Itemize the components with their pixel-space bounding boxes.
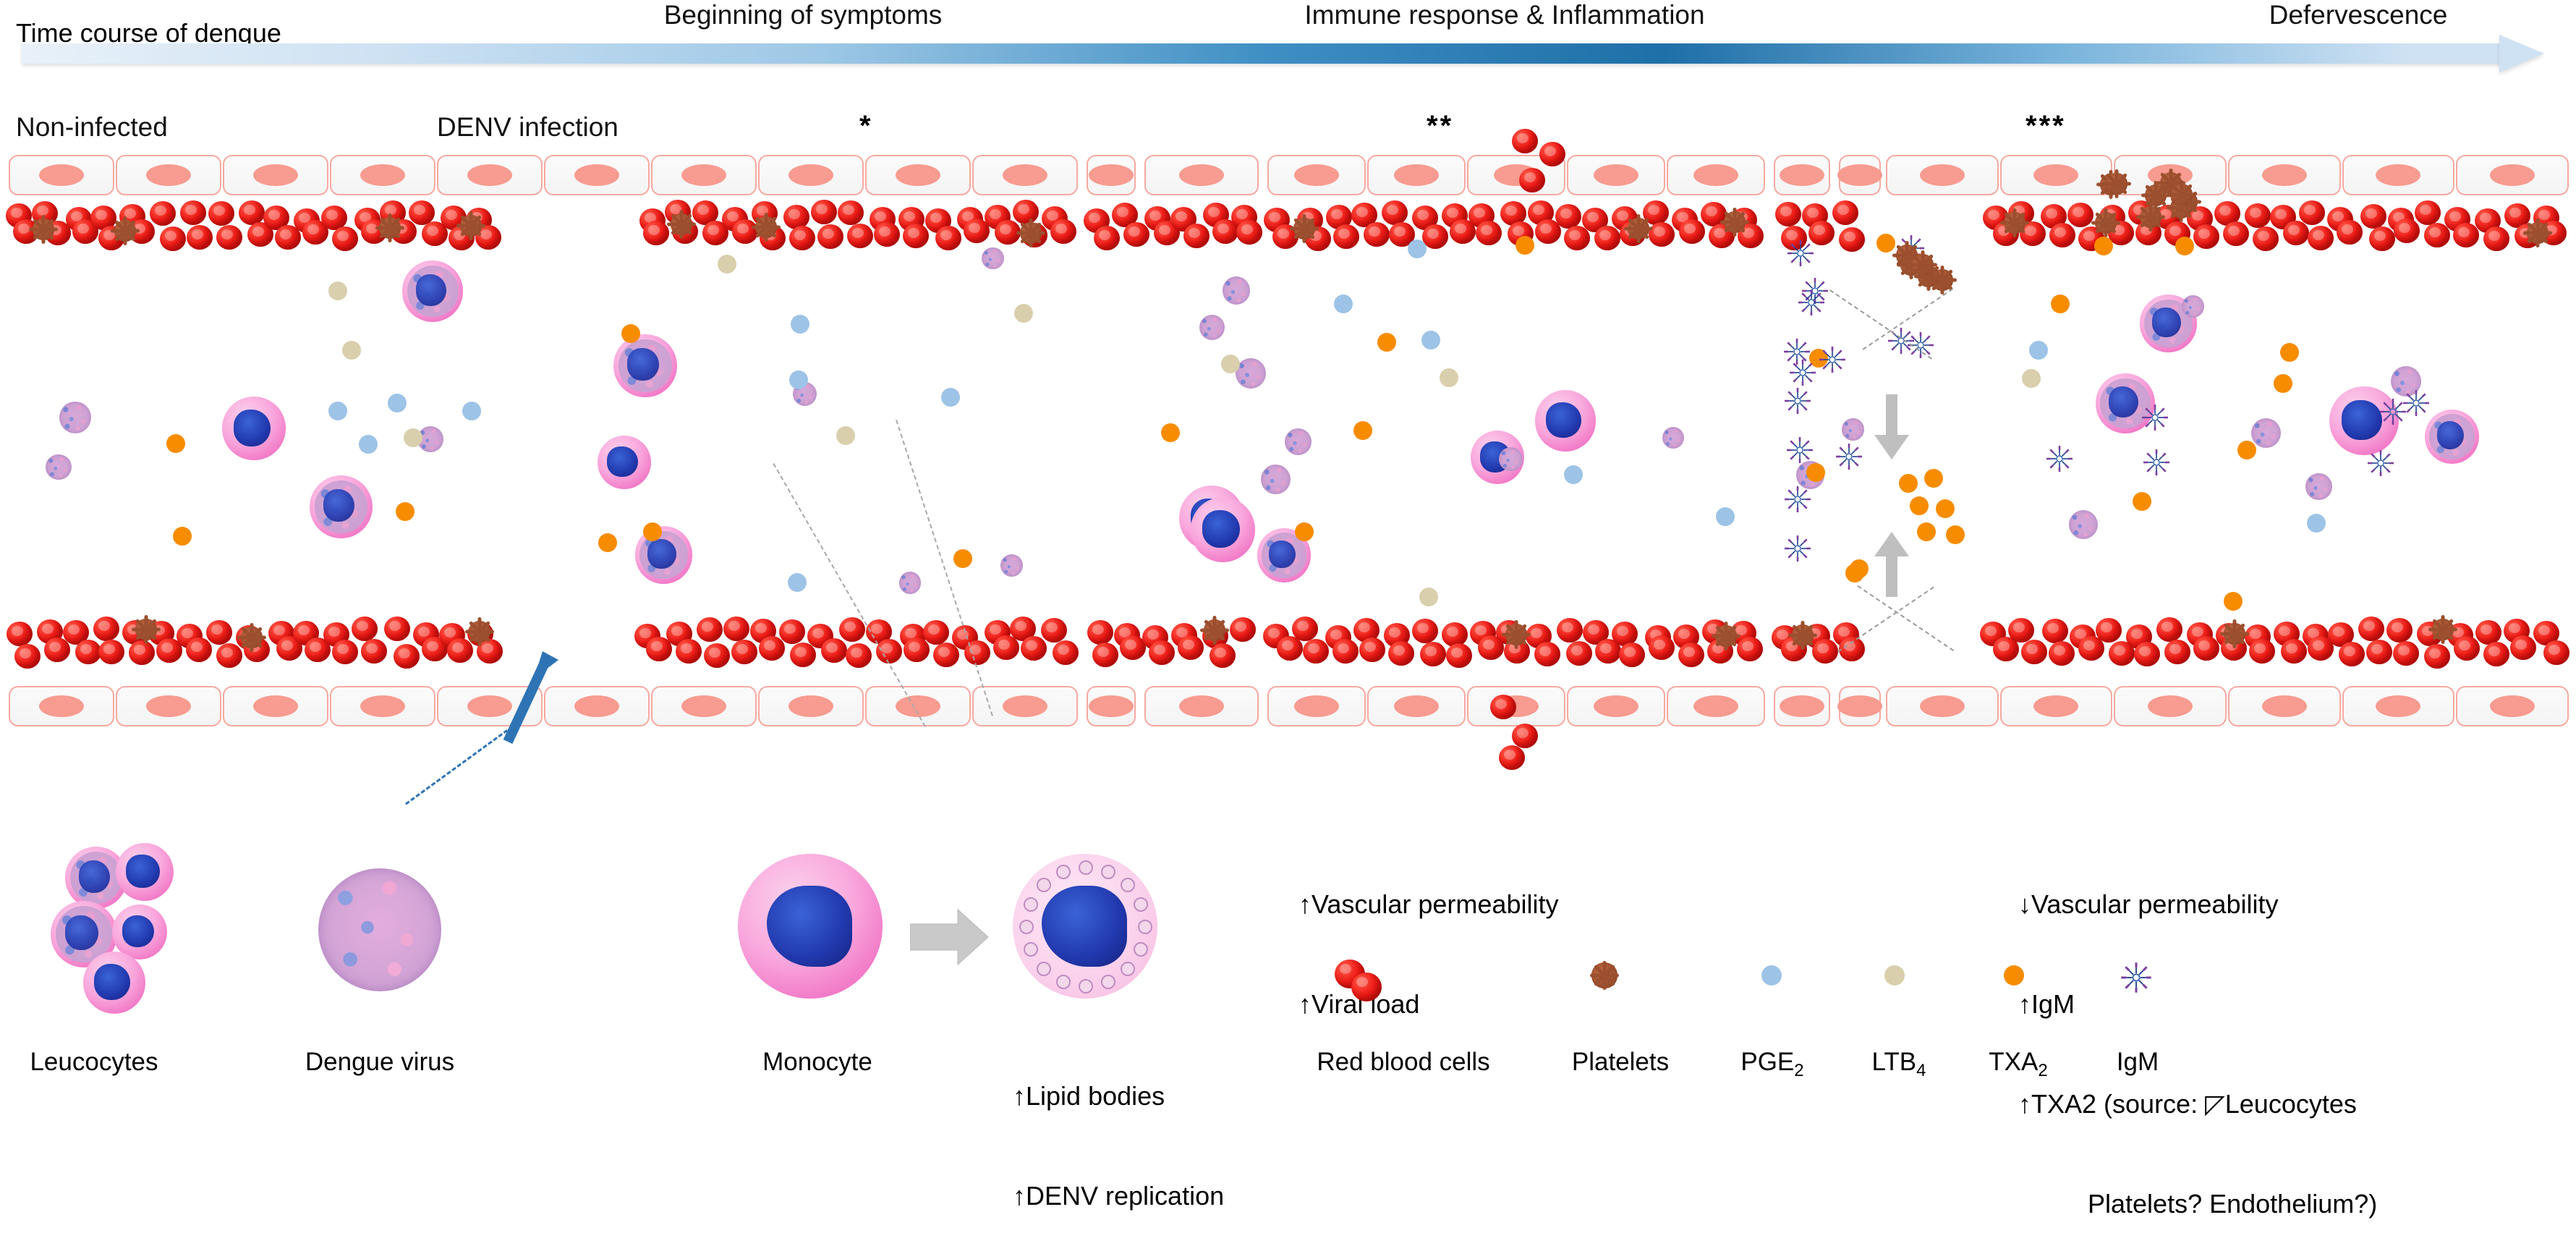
cell-nucleus [1202,510,1240,548]
ltb4-marker [1014,304,1033,323]
red-blood-cell [1094,226,1120,250]
red-blood-cell [1041,618,1067,643]
txa2-marker [953,549,972,568]
endothelial-cell [1144,155,1259,195]
lipid-body [1121,878,1135,892]
dengue-virion [2251,418,2281,448]
platelet-aggregate [2106,173,2127,195]
pge2-marker [2029,341,2048,360]
endothelial-cell [2342,686,2455,726]
leucocyte [83,952,145,1014]
endothelial-cell [1567,686,1665,726]
endothelial-nucleus [1693,164,1738,186]
endothelial-cell [972,155,1078,195]
platelet [1204,619,1225,641]
granulocyte [402,260,463,321]
red-blood-cell [2308,226,2334,250]
red-blood-cell [1183,224,1210,248]
red-blood-cell [2253,226,2279,251]
txa2-marker [598,533,617,552]
legend-label-ltb4: LTB4 [1834,1048,1964,1081]
endothelial-nucleus [2148,695,2193,717]
endothelial-nucleus [1294,695,1339,717]
red-blood-cell [759,636,785,661]
endothelial-nucleus [1089,695,1134,717]
platelet [469,621,490,643]
txa2-marker-cluster [1936,499,1955,518]
extravasating-red-blood-cell [1490,695,1516,719]
red-blood-cell [704,643,730,668]
red-blood-cell [208,201,234,226]
pge2-dot-icon [1761,965,1782,986]
platelet-spike [2140,206,2161,227]
platelet [2527,222,2549,244]
pge2-marker [462,402,481,420]
endothelial-cell [1667,686,1765,726]
platelet-spike [1912,254,1934,276]
red-blood-cell [1210,643,1236,668]
platelet-spike [2004,211,2025,233]
red-blood-cell [1050,219,1076,244]
ltb4-marker [1221,355,1240,373]
red-blood-cell [2483,226,2509,251]
pge2-marker [388,394,407,412]
pge2-marker [1716,507,1735,526]
pge2-marker [1421,331,1440,349]
cell-nucleus [767,886,852,967]
platelet [33,219,54,240]
red-blood-cell [2134,642,2160,666]
endothelial-cell [2456,686,2569,726]
red-blood-cell [14,644,41,669]
red-blood-cell [206,620,232,645]
ltb4-marker [836,426,855,445]
red-blood-cell [2193,224,2219,249]
lipid-body [1037,878,1051,892]
txa2-marker-cluster [1910,496,1929,515]
platelet-spike [241,627,263,648]
pge2-marker [1564,465,1583,484]
red-blood-cell [697,617,723,642]
cell-nucleus [234,410,271,446]
red-blood-cell [332,640,358,664]
legend-label-pge2: PGE2 [1707,1048,1837,1081]
pge2-marker [788,573,807,592]
cell-nucleus [2152,308,2181,337]
txa2-marker-cluster [1917,522,1936,541]
txa2-marker [2237,441,2256,459]
red-blood-cell [839,617,865,642]
platelet-spike [1594,965,1615,986]
platelet [1020,222,1042,244]
platelet [114,220,136,242]
red-blood-cell [2339,642,2365,666]
ltb4-dot-icon [1884,965,1905,986]
platelet [2004,212,2025,234]
red-blood-cell [2366,640,2392,664]
extravasating-red-blood-cell [1519,168,1545,192]
red-blood-cell [2369,226,2395,251]
platelet-spike [2527,222,2549,244]
endothelial-cell [651,686,757,726]
leucocyte [1535,390,1597,452]
txa2-marker [1876,234,1895,253]
endothelial-cell [1774,155,1830,195]
endothelial-cell [544,155,650,195]
pge2-marker [789,370,808,389]
txa2-marker [2051,295,2070,313]
red-blood-cell [352,617,378,641]
platelet-aggregate [2171,184,2193,206]
ltb4-marker [342,341,361,360]
endothelial-nucleus [39,695,84,717]
endothelial-cell [223,686,328,726]
txa2-marker [1377,333,1396,352]
endothelial-nucleus [1920,695,1965,717]
leucocyte [112,905,167,959]
txa2-marker [166,434,185,453]
pge2-marker [328,402,347,420]
red-blood-cell [1013,200,1039,224]
red-blood-cell [723,617,749,641]
platelet-spike [1714,625,1736,647]
endothelial-nucleus [1394,695,1439,717]
red-blood-cell [1649,635,1675,660]
red-blood-cell [216,643,242,668]
endothelial-cell [1667,155,1765,195]
dengue-virion [1842,418,1864,441]
legend-label-platelets: Platelets [1537,1048,1704,1077]
endothelial-cell [1367,686,1466,726]
igm-antibody-icon [1783,485,1812,514]
ltb4-marker [718,255,736,274]
txa2-marker [1353,421,1372,440]
endothelial-nucleus [896,164,940,186]
platelet [1505,624,1527,645]
txa2-dot-icon [2004,965,2024,986]
note-line: DENV replication [1013,1179,1224,1213]
red-blood-cell [1679,219,1705,244]
endothelial-cell [2000,155,2113,195]
platelet [2432,619,2454,640]
red-blood-cell [811,200,837,224]
platelet-spike [2095,211,2117,233]
platelet [671,213,692,235]
dengue-virion [2182,295,2204,318]
endothelial-cell [1886,686,1999,726]
dengue-virion [1285,428,1312,455]
endothelial-nucleus [1394,164,1439,186]
platelet-spike [2224,623,2245,645]
endothelial-cell [116,686,221,726]
txa2-marker [1295,522,1314,541]
red-blood-cell [2394,219,2420,243]
endothelial-nucleus [1179,164,1224,186]
igm-antibody-icon [1818,345,1847,374]
endothelial-nucleus [1780,164,1824,186]
endothelial-nucleus [2376,695,2420,717]
igm-antibody-icon [1797,288,1826,317]
legend-area [0,825,2576,1132]
cell-nucleus [94,964,130,1000]
txa2-marker [1516,236,1534,255]
txa2-marker [2224,592,2243,611]
red-blood-cell [1303,639,1329,664]
endothelial-cell [1839,686,1881,726]
leucocyte [1191,497,1256,562]
red-blood-cell [2049,223,2075,247]
cell-nucleus [2342,400,2381,440]
red-blood-cell [1053,640,1079,665]
platelet-spike [1505,624,1527,645]
cell-nucleus [126,855,159,888]
gray-convergence-arrow [1870,394,1913,459]
platelet-spike [378,216,400,238]
red-blood-cell [2360,204,2386,229]
pge2-marker [791,315,809,334]
red-blood-cell [394,644,420,669]
red-blood-cell [2245,203,2271,228]
lipid-body [1056,975,1071,989]
txa2-marker [1161,423,1180,442]
red-blood-cell [779,619,805,644]
cell-nucleus [1546,402,1581,438]
red-blood-cell [838,200,864,225]
red-blood-cell [846,643,872,668]
red-blood-cell [1775,202,1801,226]
granulocyte [310,475,373,538]
platelet-spike [1204,619,1225,641]
lipid-body [1019,920,1034,934]
leucocyte [738,854,883,999]
endothelial-cell [1774,686,1830,726]
txa2-marker [1806,463,1825,482]
endothelial-nucleus [1089,164,1134,186]
pge2-marker [941,388,960,407]
granulocyte [613,334,677,398]
igm-antibody-icon [1783,386,1812,415]
red-blood-cell [1359,637,1385,662]
txa2-marker-cluster [1946,525,1965,544]
red-blood-cell [1476,221,1502,245]
endothelial-cell [2228,686,2341,726]
platelet-aggregate [2140,206,2161,228]
endothelial-cell [651,155,757,195]
red-blood-cell [1333,224,1359,249]
legend-label-dengue-virus: Dengue virus [275,1048,485,1077]
dengue-virion [2069,510,2098,539]
red-blood-cell [1178,635,1204,660]
cell-nucleus [607,446,638,478]
igm-antibody-icon [2045,444,2074,473]
endothelial-nucleus [1594,695,1638,717]
red-blood-cell [821,638,847,663]
ltb4-marker [1440,368,1458,387]
red-blood-cell [874,222,900,247]
igm-antibody-icon [1835,442,1863,471]
red-blood-cell [1412,619,1438,643]
endothelial-cell [758,686,864,726]
red-blood-cell [1566,641,1592,666]
red-blood-cell [216,225,242,250]
endothelial-nucleus [681,164,726,186]
platelet-spike [135,619,157,640]
note-line: Platelets? Endothelium?) [2018,1187,2377,1221]
endothelial-nucleus [1003,164,1047,186]
red-blood-cell [2337,220,2363,245]
platelet-spike [1293,217,1314,239]
red-blood-cell [180,200,206,225]
endothelial-nucleus [2490,695,2535,717]
endothelial-nucleus [1780,695,1824,717]
red-blood-cell [2483,642,2509,666]
red-blood-cell [2283,221,2309,245]
dengue-virion [59,402,91,433]
red-blood-cell [2008,618,2034,643]
dengue-virion [1662,427,1684,449]
red-blood-cell [1619,643,1645,667]
endothelial-nucleus [574,164,619,186]
lipid-body [1037,962,1051,976]
red-blood-cell [129,640,155,665]
leucocyte [116,843,174,901]
red-blood-cell [790,643,816,667]
endothelial-cell [1144,686,1259,726]
red-blood-cell [923,620,949,645]
red-blood-cell [2453,223,2479,247]
pge2-marker [1408,240,1427,258]
red-blood-cell [903,224,929,248]
endothelial-nucleus [39,164,84,186]
red-blood-cell [2543,640,2569,665]
endothelial-cell [2114,686,2227,726]
dengue-virion [1236,358,1266,389]
endothelial-cell [1267,155,1366,195]
platelet-spike [114,220,136,242]
cell-nucleus [2109,386,2138,418]
red-blood-cell [876,639,902,664]
endothelial-nucleus [2033,695,2078,717]
endothelial-nucleus [146,164,191,186]
red-blood-cell [2049,641,2075,666]
endothelial-nucleus [2262,164,2307,186]
pge2-marker [2307,514,2326,533]
red-blood-cell [2096,618,2122,643]
platelet [135,619,157,640]
red-blood-cell [1382,200,1408,225]
red-blood-cell [2299,200,2325,225]
red-blood-cell [731,640,757,664]
endothelial-cell [2456,155,2569,195]
red-blood-cell [1364,222,1390,247]
igm-antibody-icon [1783,534,1812,563]
platelet-spike [1792,624,1814,646]
red-blood-cell [904,637,930,662]
endothelial-cell [1467,686,1565,726]
red-blood-cell [93,617,119,641]
legend-label-igm: IgM [2073,1048,2203,1077]
txa2-marker [173,527,192,546]
red-blood-cell [1812,639,1838,664]
red-blood-cell [2193,636,2219,661]
lipid-body [1079,979,1093,994]
endothelial-nucleus [2262,695,2307,717]
platelet-spike [1628,218,1649,240]
lipid-body [1079,860,1093,875]
platelet [2224,623,2245,645]
endothelial-nucleus [2490,164,2535,186]
platelet-spike [1723,211,1745,233]
lipid-body [1056,865,1071,879]
platelet-spike [1020,222,1042,244]
red-blood-cell [1420,642,1446,666]
red-blood-cell [186,637,212,662]
red-blood-cell [1230,617,1256,642]
platelet [460,215,482,237]
endothelial-cell [758,155,864,195]
platelet [379,217,401,239]
igm-antibody-icon [2379,397,2407,426]
igm-antibody-icon [2120,961,2153,994]
ltb4-marker [1419,588,1438,606]
red-blood-cell [2358,617,2384,641]
lipid-body [1134,942,1148,957]
dengue-virion [1000,554,1023,577]
red-blood-cell [1649,222,1675,247]
red-blood-cell [187,225,213,250]
red-blood-cell [160,226,186,251]
igm-antibody-icon [1786,239,1815,268]
cell-nucleus [79,860,110,893]
dengue-virion [46,454,72,480]
platelet [755,216,777,238]
extravasating-red-blood-cell [1512,724,1538,748]
red-blood-cell [1123,222,1149,247]
cell-nucleus [122,915,154,947]
endothelial-cell [330,686,435,726]
lipid-body [1138,920,1152,934]
endothelial-nucleus [788,164,833,186]
endothelial-nucleus [146,695,191,717]
leucocyte [1013,854,1157,999]
igm-antibody-icon [1782,337,1811,366]
cell-nucleus [416,274,446,306]
red-blood-cell [98,640,124,664]
red-blood-cell [150,201,176,226]
igm-antibody-icon [2142,448,2171,477]
dengue-virion [1261,465,1291,494]
red-blood-cell [1092,643,1118,667]
txa2-marker [1845,564,1864,582]
dengue-virion-large [318,868,441,991]
red-blood-cell [789,226,815,250]
red-blood-cell [643,221,669,245]
endothelial-nucleus [788,695,833,717]
red-blood-cell [676,639,702,664]
red-blood-cell [75,640,101,664]
dengue-virion [1199,315,1225,340]
endothelial-nucleus [1693,695,1738,717]
platelet [1628,218,1649,240]
platelet-spike [2170,184,2192,206]
platelet [1724,211,1746,233]
transform-arrow-icon [910,908,990,966]
red-blood-cell [2067,203,2093,227]
red-blood-cell [1236,220,1262,245]
legend-label-monocyte: Monocyte [723,1048,911,1077]
endothelial-nucleus [253,695,298,717]
pge2-marker [359,435,378,454]
